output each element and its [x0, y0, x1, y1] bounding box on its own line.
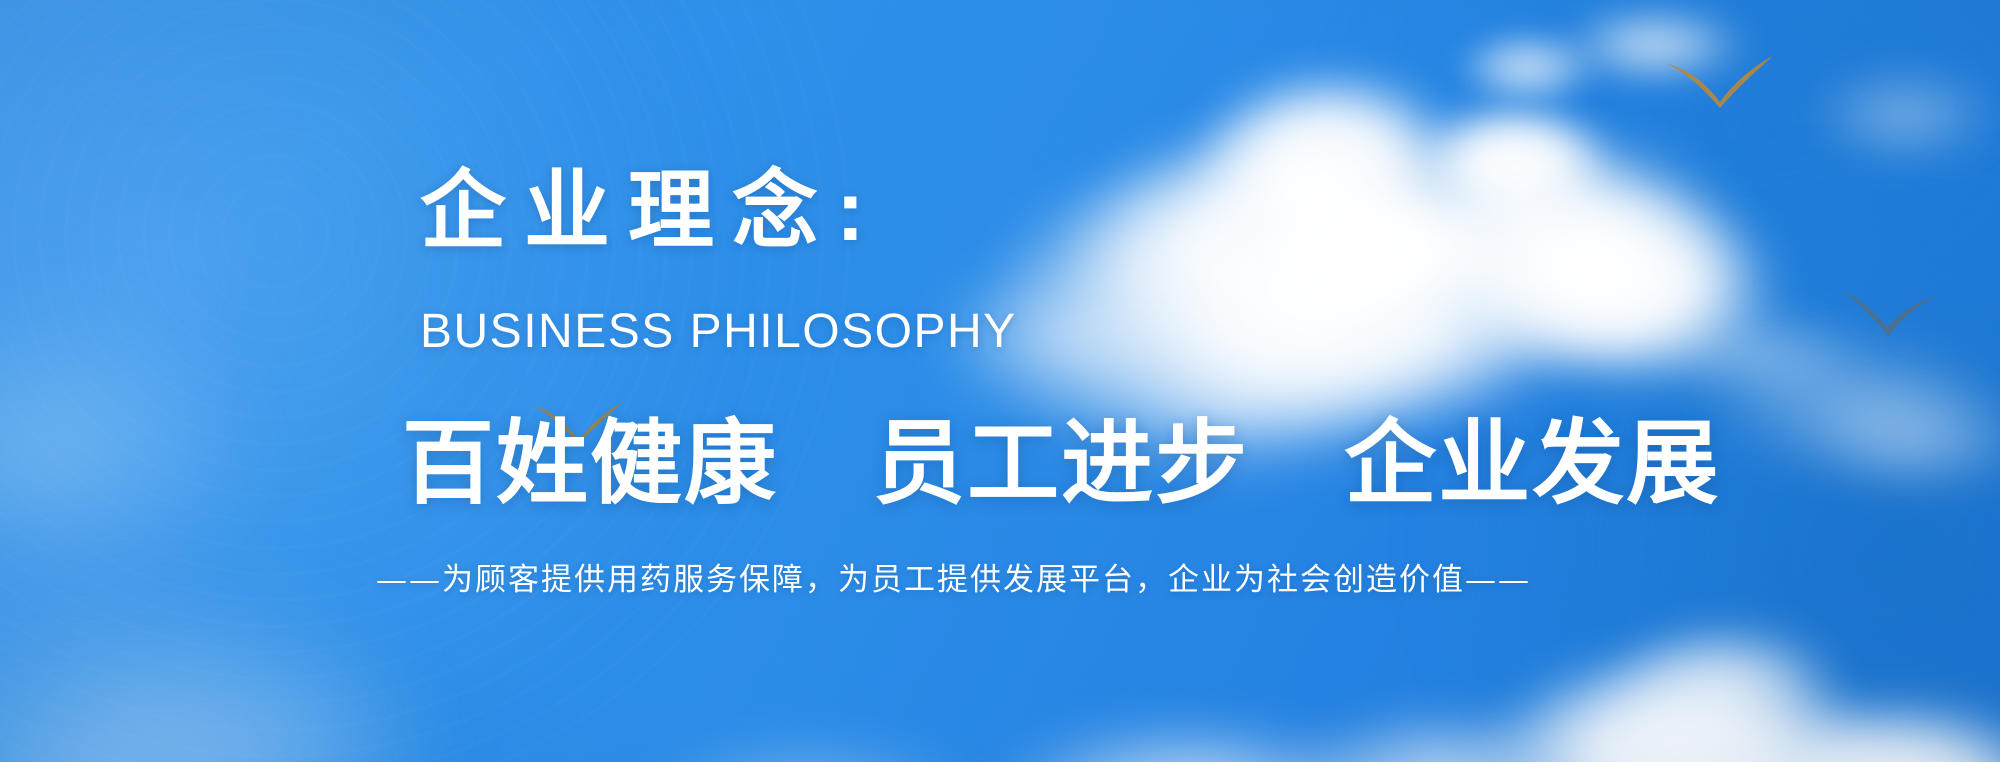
page-title: 企业理念:: [420, 168, 883, 254]
slogan: 百姓健康 员工进步 企业发展: [402, 418, 1720, 510]
tagline: ——为顾客提供用药服务保障，为员工提供发展平台，企业为社会创造价值——: [376, 565, 1531, 596]
subtitle-english: BUSINESS PHILOSOPHY: [420, 308, 1017, 356]
slogan-part-3: 企业发展: [1344, 413, 1720, 515]
banner-text-content: 企业理念: BUSINESS PHILOSOPHY 百姓健康 员工进步 企业发展…: [0, 0, 2000, 762]
business-philosophy-banner: 企业理念: BUSINESS PHILOSOPHY 百姓健康 员工进步 企业发展…: [0, 0, 2000, 762]
slogan-part-2: 员工进步: [873, 413, 1249, 515]
slogan-part-1: 百姓健康: [402, 413, 778, 515]
